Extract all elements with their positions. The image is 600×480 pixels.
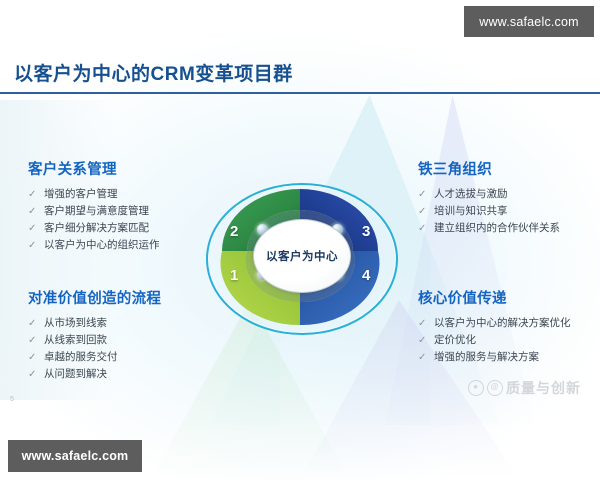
list-item-label: 增强的服务与解决方案: [434, 349, 539, 366]
list-item-label: 客户期望与满意度管理: [44, 203, 149, 220]
arc-number-1: 1: [230, 267, 238, 284]
check-icon: ✓: [28, 366, 37, 383]
check-icon: ✓: [418, 203, 427, 220]
check-icon: ✓: [28, 332, 37, 349]
watermark-faint-label: 质量与创新: [506, 378, 581, 398]
watermark-top-right: www.safaelc.com: [464, 6, 594, 37]
check-icon: ✓: [418, 349, 427, 366]
quadrant-org-list: ✓人才选拔与激励 ✓培训与知识共享 ✓建立组织内的合作伙伴关系: [418, 186, 560, 237]
quadrant-org-heading: 铁三角组织: [418, 158, 560, 179]
list-item: ✓培训与知识共享: [418, 203, 560, 220]
page-number: 5: [10, 396, 14, 403]
list-item-label: 从线索到回款: [44, 332, 107, 349]
check-icon: ✓: [28, 203, 37, 220]
watermark-bottom-left: www.safaelc.com: [8, 440, 142, 472]
list-item: ✓以客户为中心的组织运作: [28, 237, 160, 254]
quadrant-process: 对准价值创造的流程 ✓从市场到线索 ✓从线索到回款 ✓卓越的服务交付 ✓从问题到…: [28, 287, 161, 383]
watermark-faint: ● @ 质量与创新: [468, 378, 581, 398]
list-item: ✓从线索到回款: [28, 332, 161, 349]
arc-number-2: 2: [230, 223, 238, 240]
check-icon: ✓: [28, 220, 37, 237]
quadrant-crm-heading: 客户关系管理: [28, 158, 160, 179]
list-item-label: 卓越的服务交付: [44, 349, 118, 366]
quadrant-value: 核心价值传递 ✓以客户为中心的解决方案优化 ✓定价优化 ✓增强的服务与解决方案: [418, 287, 571, 366]
list-item-label: 增强的客户管理: [44, 186, 118, 203]
quadrant-crm: 客户关系管理 ✓增强的客户管理 ✓客户期望与满意度管理 ✓客户细分解决方案匹配 …: [28, 158, 160, 254]
list-item-label: 从问题到解决: [44, 366, 107, 383]
list-item-label: 从市场到线索: [44, 315, 107, 332]
weibo-icon: ●: [468, 380, 484, 396]
list-item: ✓增强的服务与解决方案: [418, 349, 571, 366]
list-item: ✓增强的客户管理: [28, 186, 160, 203]
list-item: ✓从市场到线索: [28, 315, 161, 332]
page-title: 以客户为中心的CRM变革项目群: [0, 62, 600, 88]
quadrant-value-heading: 核心价值传递: [418, 287, 571, 308]
arc-number-4: 4: [362, 267, 370, 284]
center-diagram: 1 2 3 4 以客户为中心: [200, 183, 400, 331]
center-core-label: 以客户为中心: [266, 248, 338, 264]
check-icon: ✓: [418, 186, 427, 203]
check-icon: ✓: [418, 220, 427, 237]
check-icon: ✓: [418, 332, 427, 349]
at-icon: @: [487, 380, 503, 396]
slide-canvas: 以客户为中心的CRM变革项目群 客户关系管理 ✓增强的客户管理 ✓客户期望与满意…: [0, 0, 600, 480]
quadrant-process-list: ✓从市场到线索 ✓从线索到回款 ✓卓越的服务交付 ✓从问题到解决: [28, 315, 161, 383]
slide-header: 以客户为中心的CRM变革项目群: [0, 62, 600, 94]
list-item-label: 以客户为中心的组织运作: [44, 237, 160, 254]
list-item-label: 以客户为中心的解决方案优化: [434, 315, 571, 332]
list-item: ✓从问题到解决: [28, 366, 161, 383]
quadrant-org: 铁三角组织 ✓人才选拔与激励 ✓培训与知识共享 ✓建立组织内的合作伙伴关系: [418, 158, 560, 237]
list-item: ✓客户期望与满意度管理: [28, 203, 160, 220]
list-item: ✓以客户为中心的解决方案优化: [418, 315, 571, 332]
list-item-label: 培训与知识共享: [434, 203, 508, 220]
quadrant-crm-list: ✓增强的客户管理 ✓客户期望与满意度管理 ✓客户细分解决方案匹配 ✓以客户为中心…: [28, 186, 160, 254]
check-icon: ✓: [28, 315, 37, 332]
quadrant-process-heading: 对准价值创造的流程: [28, 287, 161, 308]
list-item: ✓人才选拔与激励: [418, 186, 560, 203]
center-core: 以客户为中心: [253, 219, 351, 293]
check-icon: ✓: [28, 349, 37, 366]
check-icon: ✓: [418, 315, 427, 332]
quadrant-value-list: ✓以客户为中心的解决方案优化 ✓定价优化 ✓增强的服务与解决方案: [418, 315, 571, 366]
check-icon: ✓: [28, 186, 37, 203]
list-item: ✓客户细分解决方案匹配: [28, 220, 160, 237]
list-item: ✓建立组织内的合作伙伴关系: [418, 220, 560, 237]
list-item-label: 人才选拔与激励: [434, 186, 508, 203]
list-item-label: 定价优化: [434, 332, 476, 349]
check-icon: ✓: [28, 237, 37, 254]
list-item: ✓卓越的服务交付: [28, 349, 161, 366]
list-item-label: 建立组织内的合作伙伴关系: [434, 220, 560, 237]
title-divider: [0, 92, 600, 94]
arc-number-3: 3: [362, 223, 370, 240]
list-item: ✓定价优化: [418, 332, 571, 349]
list-item-label: 客户细分解决方案匹配: [44, 220, 149, 237]
